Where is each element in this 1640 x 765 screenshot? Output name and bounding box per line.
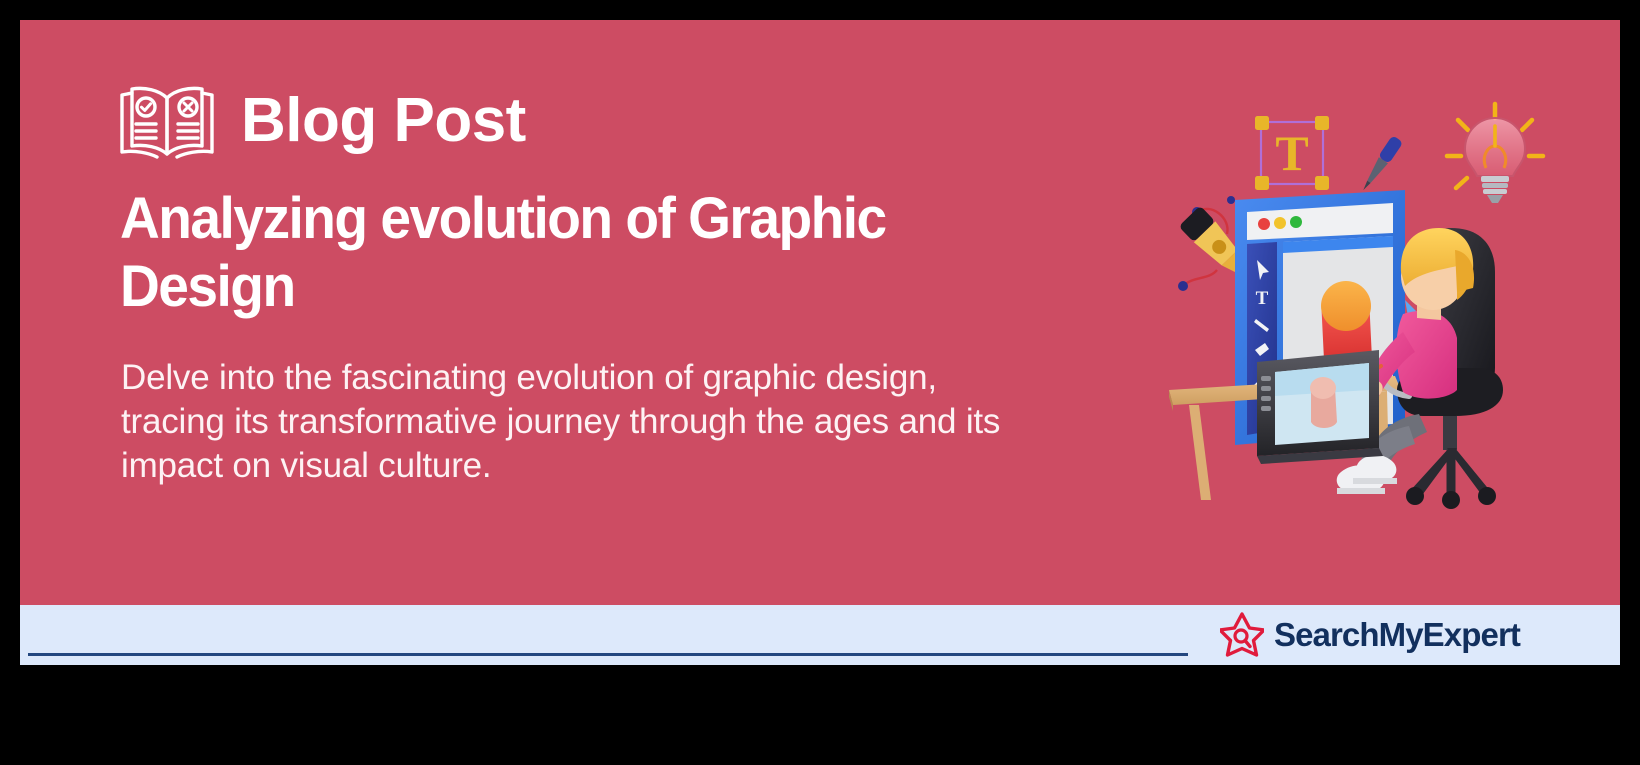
eyedropper-icon <box>1358 135 1403 194</box>
graphic-designer-illustration: T <box>1165 100 1565 530</box>
banner-text-column: Blog Post Analyzing evolution of Graphic… <box>115 75 1055 488</box>
text-tool-selection-icon: T <box>1255 116 1329 190</box>
star-search-logo-icon <box>1220 611 1264 657</box>
lightbulb-icon <box>1447 104 1543 203</box>
svg-text:T: T <box>1275 125 1308 181</box>
banner-eyebrow: Blog Post <box>115 75 1055 167</box>
brand-logo[interactable]: SearchMyExpert <box>1220 611 1520 657</box>
blog-post-banner: Blog Post Analyzing evolution of Graphic… <box>20 20 1620 605</box>
footer-bar: SearchMyExpert <box>20 605 1620 665</box>
svg-text:T: T <box>1256 288 1269 309</box>
drawing-tablet <box>1257 350 1383 464</box>
banner-eyebrow-label: Blog Post <box>241 90 526 152</box>
brand-name: SearchMyExpert <box>1274 618 1520 651</box>
screenshot-canvas: Blog Post Analyzing evolution of Graphic… <box>0 0 1640 765</box>
open-book-icon <box>115 83 219 159</box>
banner-headline: Analyzing evolution of Graphic Design <box>120 185 909 322</box>
footer-divider-rule <box>28 653 1188 656</box>
canvas-orange-circle <box>1321 281 1371 331</box>
banner-description: Delve into the fascinating evolution of … <box>121 356 1021 488</box>
